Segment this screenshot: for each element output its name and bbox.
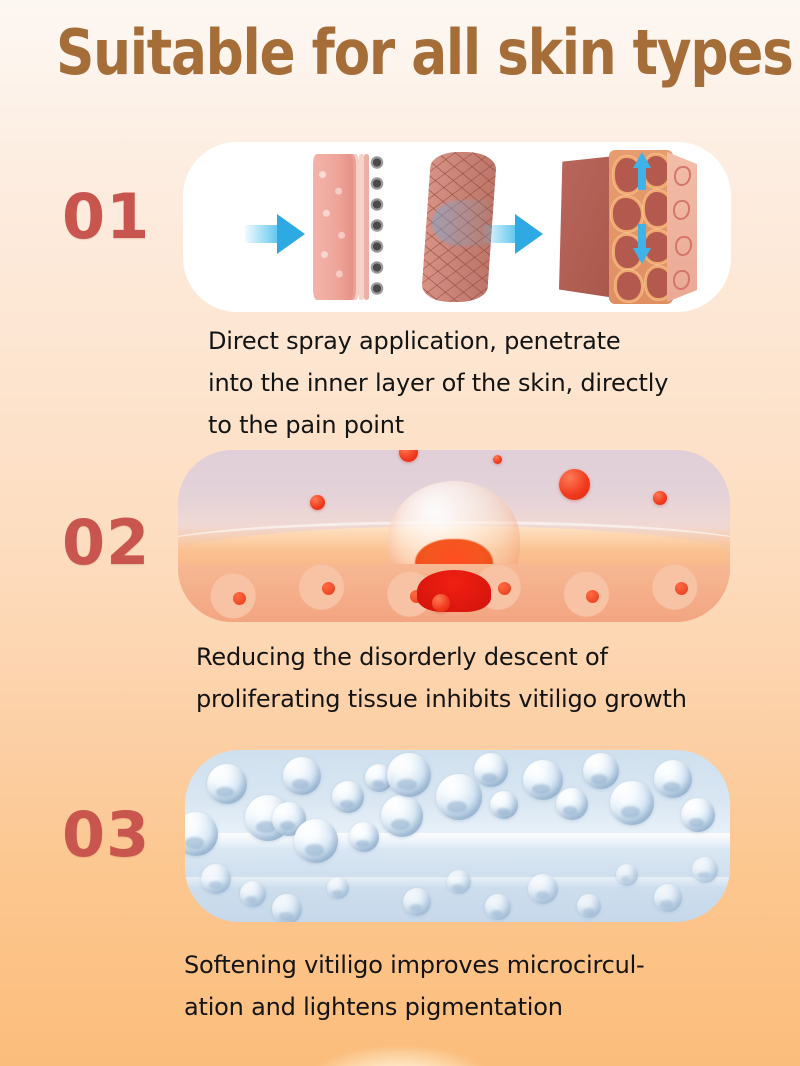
bottom-image-bleed (305, 1048, 495, 1066)
tissue-block-icon (545, 142, 725, 312)
blue-gel-spheres (185, 750, 730, 922)
step-caption-01: Direct spray application, penetrate into… (208, 320, 748, 446)
step-number-01: 01 (62, 186, 150, 248)
skin-penetration-diagram (183, 142, 731, 312)
blue-arrow-icon-1 (245, 214, 307, 254)
step-number-02: 02 (62, 512, 150, 574)
step-number-03: 03 (62, 804, 150, 866)
infographic-page: Suitable for all skin types 01 (0, 0, 800, 1066)
step-caption-02: Reducing the disorderly descent of proli… (196, 636, 756, 720)
page-title: Suitable for all skin types (56, 22, 744, 84)
inflamed-skin-cross-section (178, 450, 730, 622)
step-caption-03: Softening vitiligo improves microcircul-… (184, 944, 764, 1028)
blue-arrow-icon-2 (483, 214, 545, 254)
particle-dots-icon (369, 152, 385, 302)
